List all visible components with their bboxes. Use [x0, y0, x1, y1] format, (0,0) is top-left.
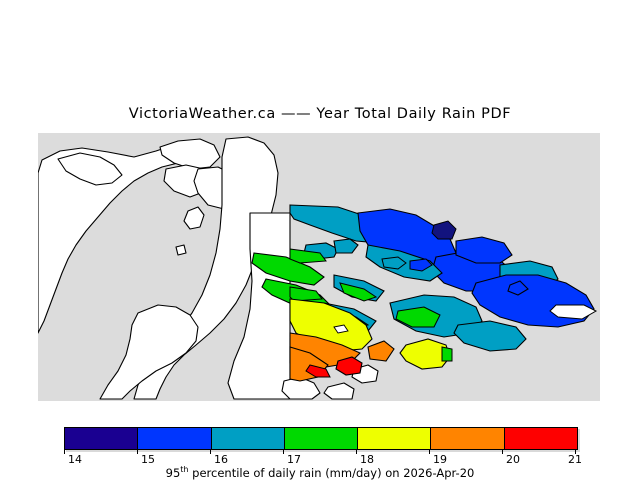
colorbar-caption: 95th percentile of daily rain (mm/day) o… [0, 465, 640, 480]
colorbar-segment-16-17[interactable] [211, 428, 284, 449]
colorbar-tick-mark [64, 449, 65, 454]
colorbar-tick-mark [502, 449, 503, 454]
colorbar-tick-mark [429, 449, 430, 454]
land-inner-islet-b [176, 245, 186, 255]
colorbar-legend: 14 15 16 17 18 19 20 21 95th percentile … [0, 420, 640, 480]
caption-prefix: 95 [166, 466, 181, 480]
colorbar-segment-19-20[interactable] [430, 428, 503, 449]
map-panel [38, 133, 600, 401]
map-svg [38, 133, 600, 401]
colorbar-segment-14-15[interactable] [65, 428, 137, 449]
colorbar-tick-mark [210, 449, 211, 454]
colorbar-segment-20-21[interactable] [504, 428, 577, 449]
colorbar-segment-18-19[interactable] [357, 428, 430, 449]
colorbar-segment-15-16[interactable] [137, 428, 210, 449]
colorbar-strip[interactable] [64, 427, 578, 450]
colorbar-ticks: 14 15 16 17 18 19 20 21 [64, 449, 578, 465]
colorbar-segment-17-18[interactable] [284, 428, 357, 449]
caption-rest: percentile of daily rain (mm/day) on 202… [189, 466, 475, 480]
colorbar-tick-mark [283, 449, 284, 454]
colorbar-tick-mark [356, 449, 357, 454]
caption-ordinal-suffix: th [180, 465, 188, 474]
page-title: VictoriaWeather.ca —— Year Total Daily R… [0, 106, 640, 122]
weather-map-figure: VictoriaWeather.ca —— Year Total Daily R… [0, 0, 640, 480]
colorbar-tick-mark [137, 449, 138, 454]
